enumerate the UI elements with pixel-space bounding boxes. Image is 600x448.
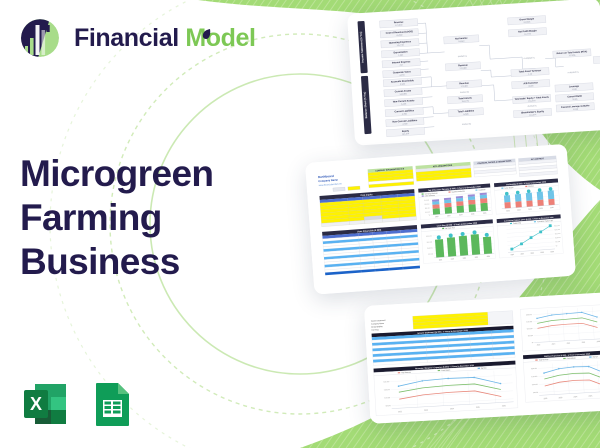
svg-text:divided by: divided by	[460, 91, 469, 94]
svg-text:Currency: Currency	[371, 329, 378, 331]
svg-text:2024: 2024	[567, 343, 571, 345]
svg-text:2025: 2025	[582, 342, 586, 344]
logo-icon	[18, 16, 62, 60]
svg-text:2025: 2025	[539, 208, 543, 210]
svg-text:2026: 2026	[550, 207, 554, 209]
svg-text:$150,000: $150,000	[384, 389, 390, 391]
google-sheets-icon[interactable]	[86, 378, 138, 430]
node-group-col2: Net Income 18,610 divided by Revenue 172…	[444, 35, 485, 127]
svg-text:2025: 2025	[475, 257, 479, 259]
chart-ebitda-projection: EBITDA Projection ($ 000) - 5 Years to D…	[523, 350, 600, 402]
svg-text:$10,000: $10,000	[425, 211, 430, 213]
svg-text:2024: 2024	[459, 214, 463, 216]
svg-text:$250,000: $250,000	[554, 225, 560, 227]
svg-text:1,392: 1,392	[398, 54, 404, 56]
svg-text:2024: 2024	[531, 252, 535, 254]
svg-text:$50,000: $50,000	[528, 335, 533, 337]
brand-name: Financial Model	[74, 26, 256, 51]
svg-text:2026: 2026	[597, 341, 600, 343]
svg-text:$150,000: $150,000	[526, 321, 532, 323]
svg-text:$100,000: $100,000	[384, 397, 390, 399]
svg-text:2025: 2025	[471, 213, 475, 215]
panel-key-metrics: KEY METRICS	[518, 156, 557, 177]
svg-text:2024: 2024	[528, 209, 532, 211]
svg-text:2023: 2023	[559, 397, 563, 399]
svg-text:2023: 2023	[451, 258, 455, 260]
svg-text:$150,000: $150,000	[555, 233, 561, 235]
node-group-col3: Gross Margin 24.05% Net Profit Margin 10…	[508, 16, 552, 118]
svg-text:2022: 2022	[439, 259, 443, 261]
brand-word-model: Model	[185, 24, 255, 52]
svg-text:$50,000: $50,000	[555, 241, 560, 243]
svg-text:$200,000: $200,000	[555, 229, 561, 231]
svg-text:$100,000: $100,000	[527, 328, 533, 330]
svg-text:$0: $0	[532, 342, 534, 344]
svg-text:$20,000: $20,000	[425, 207, 430, 209]
svg-text:2025: 2025	[588, 395, 592, 397]
svg-text:$150,000: $150,000	[427, 241, 433, 243]
excel-icon[interactable]: X	[20, 378, 72, 430]
svg-text:$100,000: $100,000	[427, 247, 433, 249]
svg-text:12.32%: 12.32%	[569, 55, 576, 57]
svg-text:divided by: divided by	[462, 123, 471, 126]
svg-text:2023: 2023	[447, 215, 451, 217]
chart-income-statement-projection: 20222023 202420252026 $200,000$150,000 $…	[520, 304, 600, 351]
svg-text:2026: 2026	[502, 405, 506, 407]
svg-text:divided by: divided by	[458, 56, 467, 59]
svg-text:multiplied by: multiplied by	[523, 56, 534, 60]
panel-uses-financials: Uses Financials ($ 000)	[322, 225, 420, 275]
svg-text:$200,000: $200,000	[531, 368, 537, 370]
page-title: Microgreen Farming Business	[20, 152, 260, 284]
panel-company-information: COMPANY INFORMATION IN $	[368, 166, 414, 188]
node-group-income: Revenue 172,800 Cost of Revenue (COGS) 4…	[380, 19, 422, 78]
title-line-3: Business	[20, 240, 260, 284]
svg-text:$100,000: $100,000	[555, 237, 561, 239]
svg-text:$50,000: $50,000	[533, 392, 538, 394]
svg-text:2024: 2024	[463, 257, 467, 259]
dupont-tree-diagram: Income Statement (5 Yrs) Balance Sheet (…	[347, 0, 600, 146]
chart-cash-flow: Cash flow ($ 000) - 5 Years to December …	[421, 219, 496, 263]
svg-text:2022: 2022	[537, 344, 541, 346]
svg-text:2024: 2024	[573, 396, 577, 398]
svg-text:2024: 2024	[450, 408, 454, 410]
chart-revenue-margins-expenses: Revenue / Margins / Expenses ($ 000) - 5…	[374, 361, 518, 416]
node-roe: Return on Equity (ROE) 12.89%	[593, 54, 600, 63]
title-line-2: Farming	[20, 196, 260, 240]
svg-text:$30,000: $30,000	[425, 203, 430, 205]
svg-text:$50,000: $50,000	[428, 253, 433, 255]
svg-text:$100,000: $100,000	[532, 384, 538, 386]
svg-text:multiplied by: multiplied by	[567, 71, 578, 75]
svg-text:$200,000: $200,000	[526, 314, 532, 316]
svg-text:10.77%: 10.77%	[524, 33, 531, 35]
svg-text:2022: 2022	[398, 411, 402, 413]
svg-text:divided by: divided by	[528, 105, 537, 108]
svg-text:$150,000: $150,000	[531, 376, 537, 378]
screenshot-card-dupont[interactable]: Income Statement (5 Yrs) Balance Sheet (…	[347, 0, 600, 146]
svg-text:2022: 2022	[506, 210, 510, 212]
svg-text:6,195: 6,195	[401, 103, 407, 105]
svg-text:2022: 2022	[435, 216, 439, 218]
node-group-col4: Return on Total Assets (ROA) 12.32% mult…	[553, 49, 595, 112]
svg-text:2025: 2025	[540, 252, 544, 254]
svg-text:2023: 2023	[424, 410, 428, 412]
svg-text:2022: 2022	[511, 254, 515, 256]
panel-financial-ratios: FINANCIAL RATIOS & ASSUMPTIONS	[473, 159, 516, 177]
file-format-icons: X	[20, 378, 138, 430]
svg-text:2026: 2026	[483, 212, 487, 214]
node-group-balance: Accounts Receivable 4,940 Current Assets…	[383, 77, 425, 136]
chart-cumulative-payback: Cumulative Payback Chart ($ 000) - 5 Yea…	[497, 214, 564, 258]
svg-text:2023: 2023	[521, 253, 525, 255]
svg-text:2025: 2025	[476, 407, 480, 409]
title-line-1: Microgreen	[20, 152, 260, 196]
svg-text:2022: 2022	[544, 398, 548, 400]
svg-text:41,580: 41,580	[396, 35, 403, 37]
chart-top-revenue-streams: Top 5 Revenue Streams ($ 000) - 5 Years …	[418, 184, 492, 220]
svg-text:2026: 2026	[487, 256, 491, 258]
svg-text:X: X	[30, 394, 42, 414]
brand-word-financial: Financial	[74, 24, 179, 52]
chart-profitability: Profitability ($ 000) - 5 Years to Decem…	[494, 179, 560, 215]
svg-text:2023: 2023	[552, 343, 556, 345]
svg-text:$50,000: $50,000	[386, 405, 391, 407]
svg-text:2023: 2023	[517, 209, 521, 211]
svg-text:$200,000: $200,000	[383, 381, 389, 383]
svg-text:$40,000: $40,000	[424, 199, 429, 201]
svg-text:$200,000: $200,000	[426, 235, 432, 237]
svg-text:2026: 2026	[550, 251, 554, 253]
screenshot-card-dashboard[interactable]: Dashboard Company Name www.financialmode…	[305, 144, 576, 295]
brand-lockup: Financial Model	[18, 16, 256, 60]
poster-canvas: Financial Model Microgreen Farming Busin…	[0, 0, 600, 448]
statements-charts-screenshot: Income Statement Company Name Period End…	[364, 292, 600, 424]
dashboard-screenshot: Dashboard Company Name www.financialmode…	[305, 144, 576, 295]
screenshot-card-statements[interactable]: Income Statement Company Name Period End…	[364, 292, 600, 424]
leaf-icon	[202, 29, 211, 40]
